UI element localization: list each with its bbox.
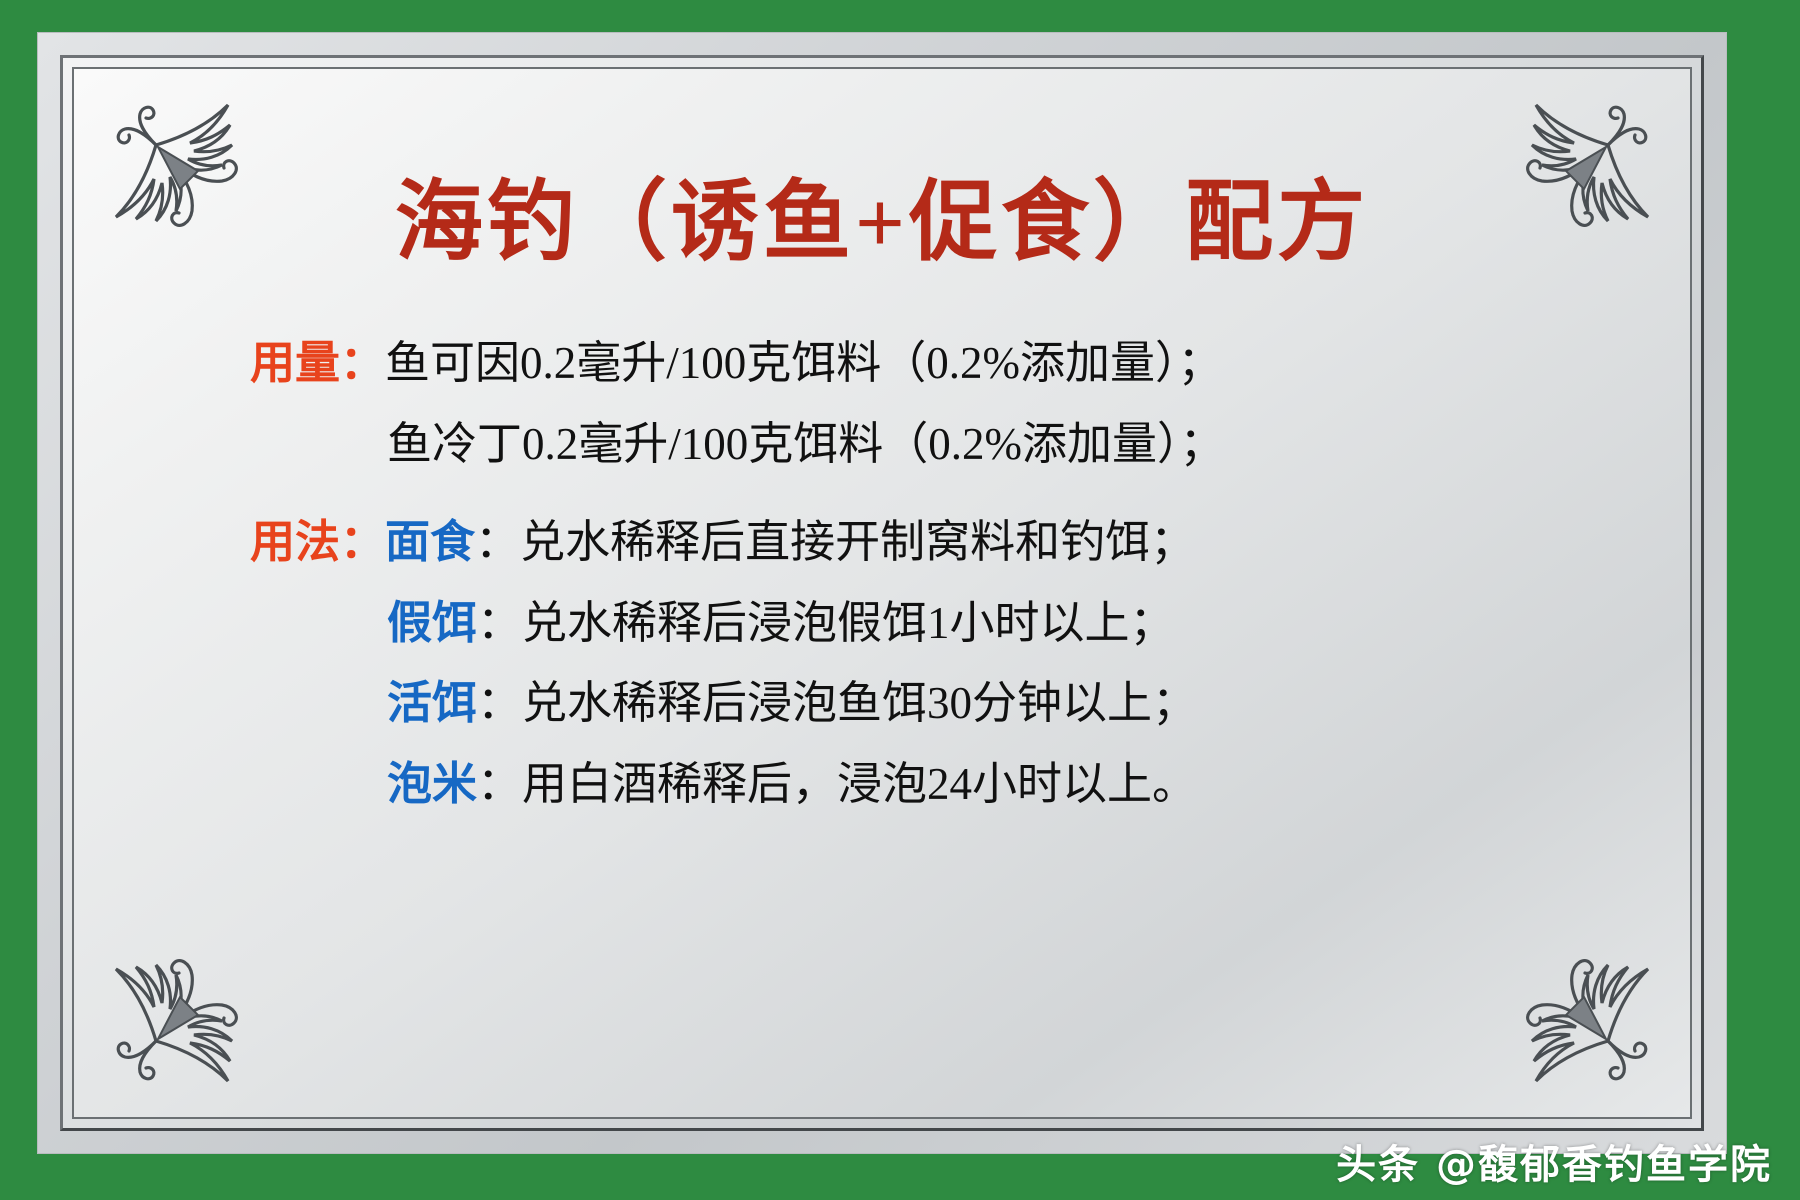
usage-item-colon-2: ：: [477, 678, 522, 728]
usage-item-name-1: 假饵: [387, 598, 477, 648]
dosage-label-colon: ：: [340, 338, 385, 388]
usage-item-name-2: 活饵: [387, 678, 477, 728]
dosage-line-1: 用量：鱼可因0.2毫升/100克饵料（0.2%添加量）；: [250, 330, 1626, 397]
dosage-text-2: 鱼冷丁0.2毫升/100克饵料（0.2%添加量）；: [387, 419, 1225, 469]
usage-label: 用法: [250, 517, 340, 567]
usage-line-1: 用法：面食：兑水稀释后直接开制窝料和钓饵；: [250, 509, 1626, 576]
usage-item-name-3: 泡米: [387, 759, 477, 809]
poster-root: 海钓（诱鱼+促食）配方 用量：鱼可因0.2毫升/100克饵料（0.2%添加量）；…: [0, 0, 1800, 1200]
usage-item-colon-0: ：: [475, 517, 520, 567]
usage-item-text-3: 用白酒稀释后，浸泡24小时以上。: [522, 759, 1197, 809]
dosage-text-1: 鱼可因0.2毫升/100克饵料（0.2%添加量）；: [385, 338, 1223, 388]
usage-item-name-0: 面食: [385, 517, 475, 567]
usage-item-colon-1: ：: [477, 598, 522, 648]
section-spacer: [250, 491, 1626, 509]
usage-item-text-2: 兑水稀释后浸泡鱼饵30分钟以上；: [522, 678, 1197, 728]
usage-item-text-0: 兑水稀释后直接开制窝料和钓饵；: [520, 517, 1195, 567]
recipe-body: 用量：鱼可因0.2毫升/100克饵料（0.2%添加量）； 鱼冷丁0.2毫升/10…: [138, 330, 1626, 818]
watermark: 头条 @馥郁香钓鱼学院: [1336, 1132, 1772, 1190]
page-title: 海钓（诱鱼+促食）配方: [138, 180, 1626, 268]
dosage-label: 用量: [250, 338, 340, 388]
dosage-line-2: 鱼冷丁0.2毫升/100克饵料（0.2%添加量）；: [250, 411, 1626, 478]
usage-line-4: 泡米：用白酒稀释后，浸泡24小时以上。: [250, 751, 1626, 818]
usage-item-text-1: 兑水稀释后浸泡假饵1小时以上；: [522, 598, 1175, 648]
usage-line-3: 活饵：兑水稀释后浸泡鱼饵30分钟以上；: [250, 670, 1626, 737]
usage-label-colon: ：: [340, 517, 385, 567]
poster-content: 海钓（诱鱼+促食）配方 用量：鱼可因0.2毫升/100克饵料（0.2%添加量）；…: [138, 128, 1626, 1058]
usage-line-2: 假饵：兑水稀释后浸泡假饵1小时以上；: [250, 590, 1626, 657]
frame-outer: 海钓（诱鱼+促食）配方 用量：鱼可因0.2毫升/100克饵料（0.2%添加量）；…: [38, 33, 1726, 1153]
usage-item-colon-3: ：: [477, 759, 522, 809]
